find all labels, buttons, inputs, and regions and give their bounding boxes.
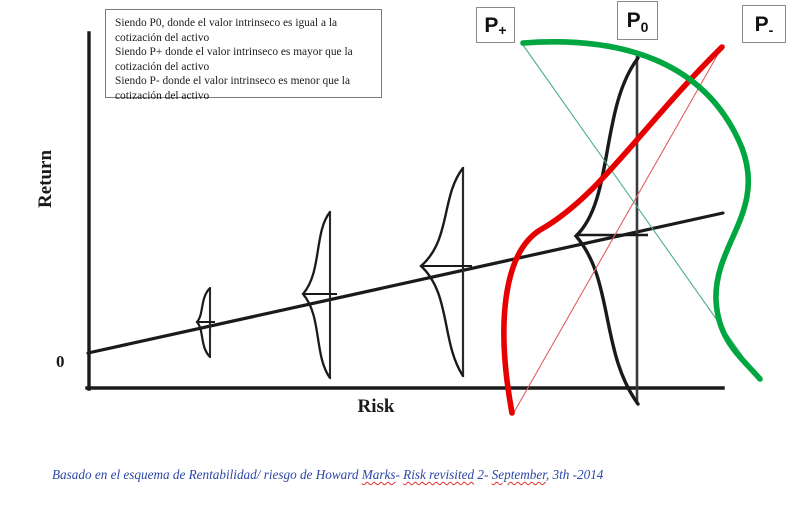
figure-canvas: Siendo P0, donde el valor intrinseco es …	[0, 0, 796, 505]
caption-mid-1: -	[395, 467, 403, 482]
y-axis-title: Return	[35, 129, 57, 229]
p-zero-label-box: P0	[617, 1, 658, 40]
p-minus-sign: -	[769, 23, 774, 42]
caption-word-september: September	[492, 467, 546, 482]
p-minus-label-box: P-	[742, 5, 786, 43]
p-zero-letter: P	[627, 10, 641, 31]
caption-suffix: , 3th -2014	[546, 467, 604, 482]
legend-line-p0: Siendo P0, donde el valor intrinseco es …	[115, 16, 373, 45]
caption-word-marks: Marks	[362, 467, 396, 482]
p-plus-sign: +	[498, 23, 506, 42]
p-plus-letter: P	[484, 15, 498, 36]
p-minus-curve	[523, 42, 760, 379]
distribution-p0	[576, 56, 648, 404]
caption-word-risk-revisited: Risk revisited	[403, 467, 474, 482]
distribution-1	[197, 288, 215, 357]
distribution-2	[303, 212, 337, 378]
legend-line-pminus: Siendo P- donde el valor intrinseco es m…	[115, 74, 373, 103]
x-axis-title: Risk	[176, 396, 576, 418]
explanation-text-box: Siendo P0, donde el valor intrinseco es …	[105, 9, 382, 98]
distribution-3	[421, 168, 472, 376]
p0-distribution-curve	[576, 58, 638, 404]
origin-label: 0	[56, 352, 65, 372]
caption-prefix: Basado en el esquema de Rentabilidad/ ri…	[52, 467, 362, 482]
p-plus-curve	[504, 47, 722, 413]
p-plus-label-box: P+	[476, 7, 515, 43]
source-caption: Basado en el esquema de Rentabilidad/ ri…	[52, 467, 603, 483]
legend-line-pplus: Siendo P+ donde el valor intrinseco es m…	[115, 45, 373, 74]
p-minus-letter: P	[755, 14, 769, 35]
caption-mid-2: 2-	[474, 467, 492, 482]
p-zero-sign: 0	[641, 20, 649, 39]
